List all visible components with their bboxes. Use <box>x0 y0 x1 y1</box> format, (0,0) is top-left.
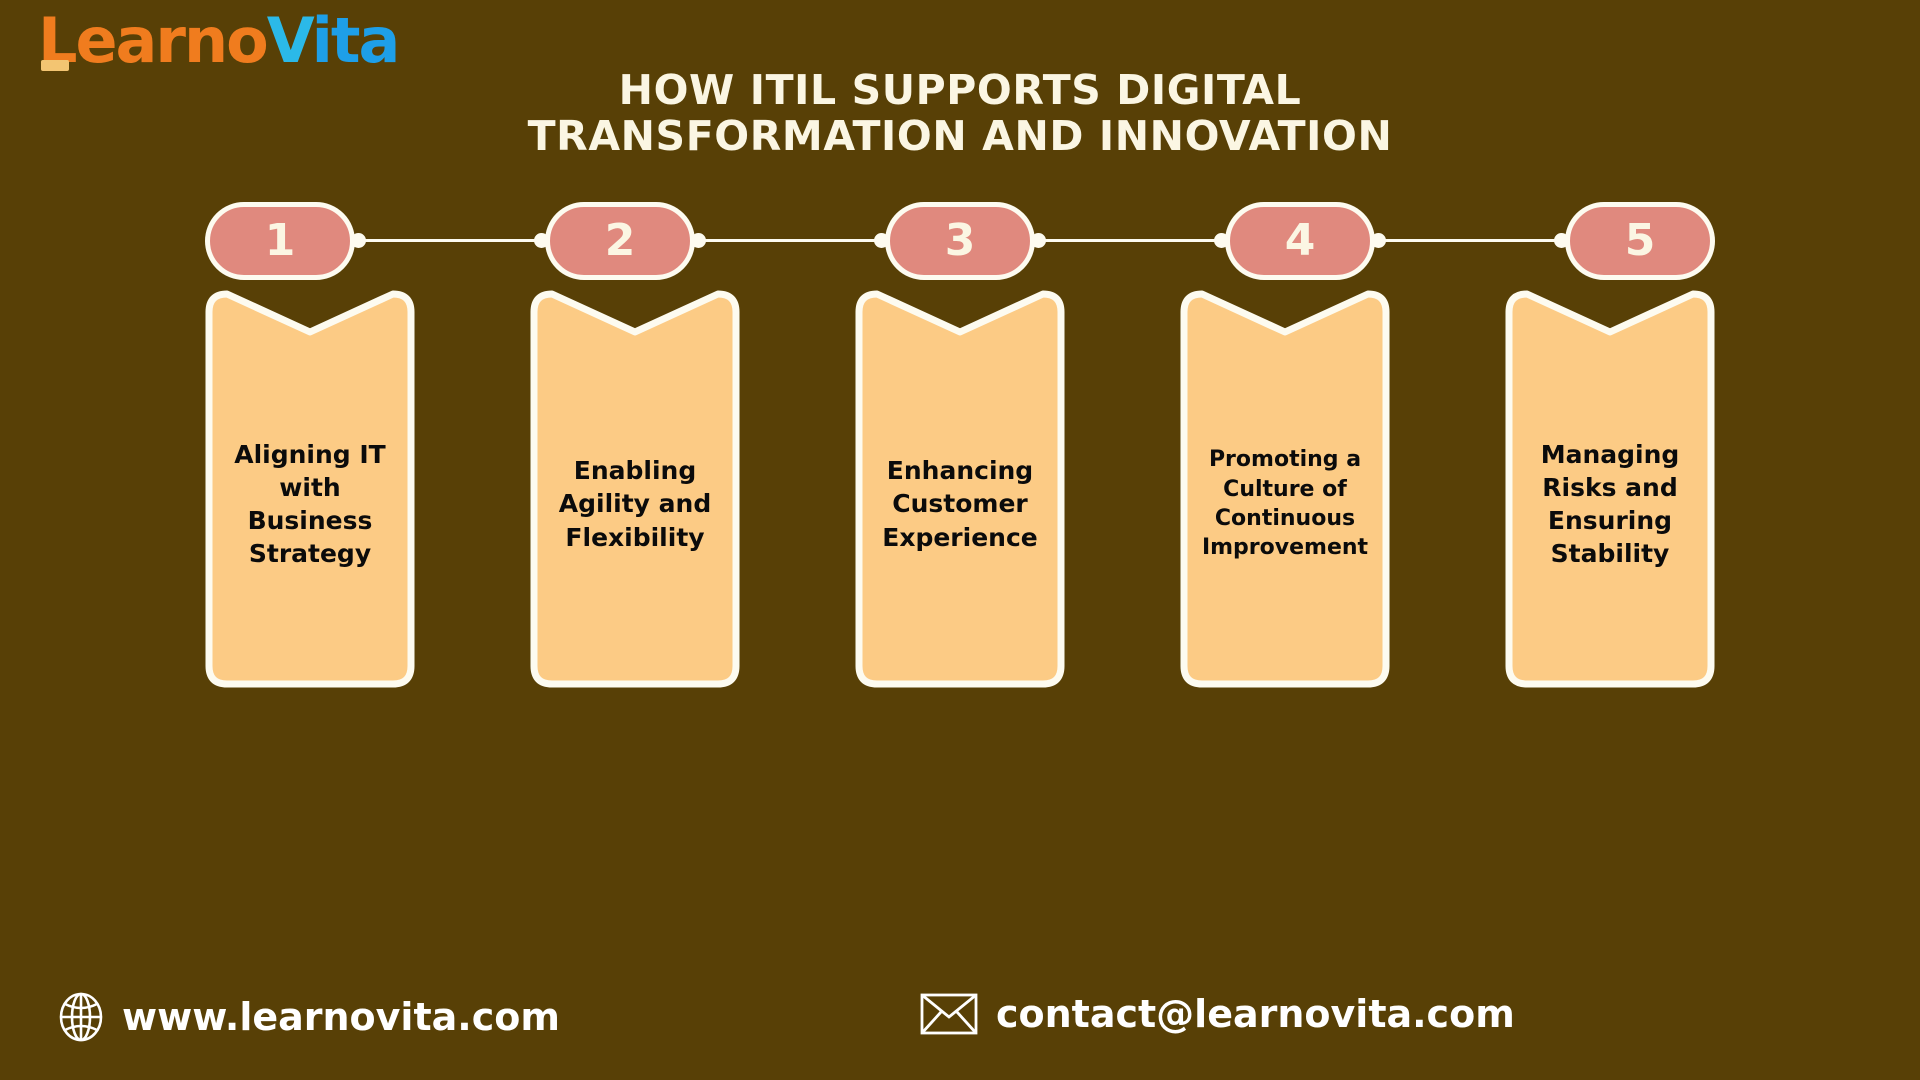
envelope-icon <box>920 992 978 1036</box>
connector-1-2 <box>355 239 545 242</box>
step-card-row: Aligning IT with Business Strategy Enabl… <box>205 290 1715 690</box>
page-title-line-2: Transformation and Innovation <box>400 114 1520 160</box>
step-card-5[interactable]: Managing Risks and Ensuring Stability <box>1505 290 1715 688</box>
step-card-label-2: Enabling Agility and Flexibility <box>542 290 728 688</box>
step-card-2[interactable]: Enabling Agility and Flexibility <box>530 290 740 688</box>
footer-email-text: contact@learnovita.com <box>996 995 1515 1033</box>
step-card-label-3: Enhancing Customer Experience <box>867 290 1053 688</box>
step-card-3[interactable]: Enhancing Customer Experience <box>855 290 1065 688</box>
footer-website-text: www.learnovita.com <box>122 998 560 1036</box>
step-number-2: 2 <box>605 219 636 263</box>
logo-vita-part: Vita <box>267 10 399 72</box>
connector-3-4 <box>1035 239 1225 242</box>
step-number-1: 1 <box>265 219 296 263</box>
infographic-poster: Learno Vita How ITIL Supports Digital Tr… <box>0 0 1920 1080</box>
step-badge-5[interactable]: 5 <box>1565 202 1715 280</box>
step-card-label-5: Managing Risks and Ensuring Stability <box>1517 290 1703 688</box>
step-badge-3[interactable]: 3 <box>885 202 1035 280</box>
logo-text-learno: Learno <box>38 4 267 77</box>
connector-4-5 <box>1375 239 1565 242</box>
page-title: How ITIL Supports Digital Transformation… <box>400 68 1520 160</box>
step-number-5: 5 <box>1625 219 1656 263</box>
step-number-3: 3 <box>945 219 976 263</box>
step-card-1[interactable]: Aligning IT with Business Strategy <box>205 290 415 688</box>
step-card-label-4: Promoting a Culture of Continuous Improv… <box>1192 290 1378 688</box>
logo-text-v: V <box>267 4 312 77</box>
step-badge-2[interactable]: 2 <box>545 202 695 280</box>
logo-learno-part: Learno <box>38 10 267 72</box>
step-number-4: 4 <box>1285 219 1316 263</box>
learnovita-logo[interactable]: Learno Vita <box>38 10 398 90</box>
logo-text-ita: ita <box>312 4 399 77</box>
footer-email[interactable]: contact@learnovita.com <box>920 992 1515 1036</box>
page-title-line-1: How ITIL Supports Digital <box>400 68 1520 114</box>
logo-accent-bar <box>41 60 69 71</box>
steps-diagram: 1 2 3 4 5 Aligning IT w <box>205 198 1715 708</box>
step-badge-1[interactable]: 1 <box>205 202 355 280</box>
footer-website[interactable]: www.learnovita.com <box>58 992 560 1042</box>
step-card-4[interactable]: Promoting a Culture of Continuous Improv… <box>1180 290 1390 688</box>
step-card-label-1: Aligning IT with Business Strategy <box>217 290 403 688</box>
step-badge-4[interactable]: 4 <box>1225 202 1375 280</box>
connector-2-3 <box>695 239 885 242</box>
globe-icon <box>58 992 104 1042</box>
